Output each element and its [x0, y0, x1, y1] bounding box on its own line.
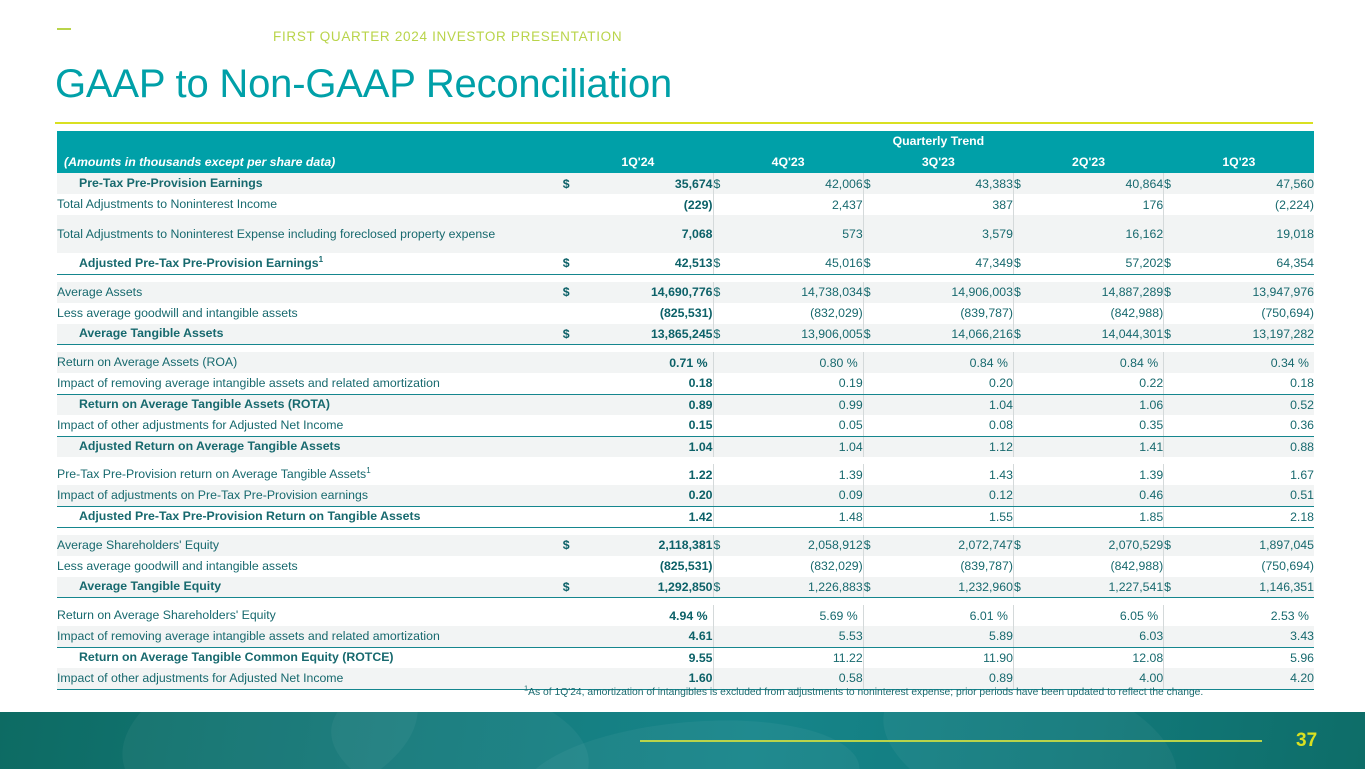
row-label: Average Tangible Assets [57, 324, 563, 345]
title-divider [55, 122, 1313, 124]
row-value: 7,068 [585, 215, 713, 253]
row-currency-symbol [863, 394, 885, 415]
row-currency-symbol [1013, 215, 1035, 253]
row-label: Pre-Tax Pre-Provision return on Average … [57, 464, 563, 485]
row-currency-symbol: $ [563, 324, 585, 345]
row-value: 11.22 [735, 647, 863, 668]
row-currency-symbol [713, 215, 735, 253]
table-footnote: 1As of 1Q'24, amortization of intangible… [524, 687, 1324, 700]
table-row: Total Adjustments to Noninterest Expense… [57, 215, 1314, 253]
row-currency-symbol [863, 215, 885, 253]
table-row: Adjusted Pre-Tax Pre-Provision Earnings1… [57, 253, 1314, 274]
row-value: 5.96 [1186, 647, 1314, 668]
row-currency-symbol [563, 436, 585, 457]
row-value: 0.88 [1186, 436, 1314, 457]
row-value: 42,006 [735, 173, 863, 194]
row-value: 0.99 [735, 394, 863, 415]
row-value: 0.20 [585, 485, 713, 506]
row-currency-symbol [563, 626, 585, 647]
table-row: Adjusted Pre-Tax Pre-Provision Return on… [57, 506, 1314, 527]
row-currency-symbol [713, 626, 735, 647]
row-label: Return on Average Shareholders' Equity [57, 605, 563, 626]
row-label: Impact of adjustments on Pre-Tax Pre-Pro… [57, 485, 563, 506]
row-currency-symbol: $ [1013, 535, 1035, 556]
row-currency-symbol [1013, 605, 1035, 626]
row-currency-symbol: $ [563, 535, 585, 556]
row-value: 13,865,245 [585, 324, 713, 345]
row-currency-symbol [713, 668, 735, 689]
row-value: 6.03 [1035, 626, 1163, 647]
row-value: 6.05 % [1035, 605, 1163, 626]
row-currency-symbol [1013, 436, 1035, 457]
row-currency-symbol [563, 194, 585, 215]
footer-subtitle: FIRST QUARTER 2024 INVESTOR PRESENTATION [273, 29, 622, 44]
row-currency-symbol [1164, 506, 1186, 527]
row-value: 2,072,747 [885, 535, 1013, 556]
row-currency-symbol [1013, 647, 1035, 668]
row-label: Adjusted Return on Average Tangible Asse… [57, 436, 563, 457]
header-spacer [57, 131, 563, 151]
table-row: Less average goodwill and intangible ass… [57, 303, 1314, 324]
row-currency-symbol [863, 485, 885, 506]
row-value: 0.71 % [585, 352, 713, 373]
row-currency-symbol [713, 605, 735, 626]
row-value: 0.34 % [1186, 352, 1314, 373]
row-currency-symbol [713, 194, 735, 215]
row-value: 1.43 [885, 464, 1013, 485]
row-currency-symbol: $ [1164, 253, 1186, 274]
row-label: Pre-Tax Pre-Provision Earnings [57, 173, 563, 194]
row-currency-symbol: $ [863, 535, 885, 556]
row-value: 9.55 [585, 647, 713, 668]
row-value: 57,202 [1035, 253, 1163, 274]
brand-name: SeacoastBank [117, 16, 256, 39]
row-value: 14,690,776 [585, 282, 713, 303]
row-value: 1.41 [1035, 436, 1163, 457]
row-value: 1.39 [735, 464, 863, 485]
row-value: 35,674 [585, 173, 713, 194]
row-currency-symbol [1164, 605, 1186, 626]
header-col-3q23: 3Q'23 [863, 151, 1013, 173]
row-currency-symbol: $ [1164, 577, 1186, 598]
row-value: (2,224) [1186, 194, 1314, 215]
row-value: 0.52 [1186, 394, 1314, 415]
row-value: 43,383 [885, 173, 1013, 194]
row-value: (842,988) [1035, 556, 1163, 577]
table-body: Pre-Tax Pre-Provision Earnings$35,674$42… [57, 173, 1314, 689]
row-value: 0.15 [585, 415, 713, 436]
row-value: 0.89 [885, 668, 1013, 689]
reconciliation-table-container: Quarterly Trend (Amounts in thousands ex… [57, 131, 1314, 690]
row-currency-symbol [1013, 506, 1035, 527]
row-currency-symbol [713, 485, 735, 506]
table-row: Impact of removing average intangible as… [57, 373, 1314, 394]
row-value: 13,947,976 [1186, 282, 1314, 303]
page-number: 37 [1296, 730, 1317, 752]
row-value: 1.60 [585, 668, 713, 689]
row-value: 0.12 [885, 485, 1013, 506]
row-currency-symbol [1013, 626, 1035, 647]
header-col-1q24: 1Q'24 [563, 151, 713, 173]
row-currency-symbol: $ [563, 253, 585, 274]
row-currency-symbol [713, 556, 735, 577]
row-value: 1,146,351 [1186, 577, 1314, 598]
row-label: Impact of removing average intangible as… [57, 373, 563, 394]
row-currency-symbol [1164, 394, 1186, 415]
row-currency-symbol [713, 394, 735, 415]
row-value: 3,579 [885, 215, 1013, 253]
row-value: 0.20 [885, 373, 1013, 394]
row-currency-symbol [863, 668, 885, 689]
row-value: 0.05 [735, 415, 863, 436]
row-value: (825,531) [585, 556, 713, 577]
row-label: Total Adjustments to Noninterest Income [57, 194, 563, 215]
row-value: 1.04 [735, 436, 863, 457]
row-label: Impact of other adjustments for Adjusted… [57, 668, 563, 689]
row-currency-symbol [1013, 194, 1035, 215]
row-currency-symbol [713, 373, 735, 394]
row-value: (825,531) [585, 303, 713, 324]
row-value: 0.18 [1186, 373, 1314, 394]
row-currency-symbol [713, 464, 735, 485]
registered-trademark-icon: ® [257, 19, 263, 28]
header-col-2q23: 2Q'23 [1013, 151, 1163, 173]
row-label: Total Adjustments to Noninterest Expense… [57, 215, 563, 253]
row-currency-symbol [1013, 352, 1035, 373]
row-currency-symbol: $ [713, 577, 735, 598]
row-currency-symbol [563, 485, 585, 506]
row-currency-symbol [1164, 485, 1186, 506]
row-value: 0.51 [1186, 485, 1314, 506]
row-label: Average Shareholders' Equity [57, 535, 563, 556]
section-gap [57, 345, 1314, 353]
row-value: 1,292,850 [585, 577, 713, 598]
row-currency-symbol [713, 647, 735, 668]
row-value: 0.36 [1186, 415, 1314, 436]
row-value: 0.09 [735, 485, 863, 506]
row-currency-symbol [563, 415, 585, 436]
row-value: 14,044,301 [1035, 324, 1163, 345]
row-currency-symbol: $ [713, 253, 735, 274]
row-value: 1.67 [1186, 464, 1314, 485]
row-label: Adjusted Pre-Tax Pre-Provision Return on… [57, 506, 563, 527]
row-currency-symbol [1164, 194, 1186, 215]
footnote-ref: 1 [319, 255, 323, 264]
row-currency-symbol [563, 394, 585, 415]
row-currency-symbol [713, 352, 735, 373]
row-currency-symbol [863, 556, 885, 577]
header-col-1q23: 1Q'23 [1164, 151, 1314, 173]
row-currency-symbol [563, 556, 585, 577]
row-currency-symbol: $ [1164, 324, 1186, 345]
row-currency-symbol: $ [713, 535, 735, 556]
row-value: 2,058,912 [735, 535, 863, 556]
footer-right-dash [640, 740, 1262, 742]
row-currency-symbol: $ [1013, 577, 1035, 598]
table-row: Pre-Tax Pre-Provision return on Average … [57, 464, 1314, 485]
reconciliation-table: Quarterly Trend (Amounts in thousands ex… [57, 131, 1314, 690]
row-value: 5.69 % [735, 605, 863, 626]
row-value: 4.00 [1035, 668, 1163, 689]
table-row: Pre-Tax Pre-Provision Earnings$35,674$42… [57, 173, 1314, 194]
row-value: 1.85 [1035, 506, 1163, 527]
row-currency-symbol [1013, 464, 1035, 485]
row-currency-symbol [1013, 394, 1035, 415]
header-caption: (Amounts in thousands except per share d… [57, 151, 563, 173]
table-row: Impact of adjustments on Pre-Tax Pre-Pro… [57, 485, 1314, 506]
row-currency-symbol [863, 373, 885, 394]
row-currency-symbol: $ [863, 577, 885, 598]
seacoast-logo-text: SeacoastBank® [117, 16, 262, 40]
row-currency-symbol [1164, 556, 1186, 577]
row-currency-symbol: $ [1013, 324, 1035, 345]
row-value: 45,016 [735, 253, 863, 274]
seacoast-logo: SeacoastBank® [86, 14, 262, 42]
row-value: 1.42 [585, 506, 713, 527]
row-value: (832,029) [735, 303, 863, 324]
row-value: 573 [735, 215, 863, 253]
row-currency-symbol: $ [1164, 282, 1186, 303]
row-currency-symbol [563, 373, 585, 394]
row-currency-symbol: $ [863, 282, 885, 303]
row-currency-symbol [563, 605, 585, 626]
row-currency-symbol: $ [713, 173, 735, 194]
row-value: 0.58 [735, 668, 863, 689]
row-currency-symbol: $ [563, 577, 585, 598]
table-row: Less average goodwill and intangible ass… [57, 556, 1314, 577]
row-currency-symbol [1013, 415, 1035, 436]
row-currency-symbol [563, 506, 585, 527]
row-label: Impact of other adjustments for Adjusted… [57, 415, 563, 436]
row-value: (842,988) [1035, 303, 1163, 324]
row-value: 14,887,289 [1035, 282, 1163, 303]
row-value: 1.04 [585, 436, 713, 457]
footer-left-dash [57, 28, 71, 30]
table-row: Return on Average Tangible Common Equity… [57, 647, 1314, 668]
row-value: 3.43 [1186, 626, 1314, 647]
row-value: 1.48 [735, 506, 863, 527]
row-currency-symbol: $ [863, 324, 885, 345]
row-currency-symbol [1164, 373, 1186, 394]
row-value: 64,354 [1186, 253, 1314, 274]
row-value: (839,787) [885, 556, 1013, 577]
row-currency-symbol [563, 464, 585, 485]
row-value: 0.84 % [885, 352, 1013, 373]
table-row: Impact of other adjustments for Adjusted… [57, 415, 1314, 436]
row-value: 176 [1035, 194, 1163, 215]
row-value: 1.04 [885, 394, 1013, 415]
row-currency-symbol [863, 415, 885, 436]
row-value: 13,197,282 [1186, 324, 1314, 345]
row-currency-symbol [1013, 373, 1035, 394]
row-value: 0.22 [1035, 373, 1163, 394]
row-currency-symbol [863, 605, 885, 626]
row-currency-symbol [1013, 556, 1035, 577]
row-value: 0.89 [585, 394, 713, 415]
row-value: 1,227,541 [1035, 577, 1163, 598]
row-currency-symbol [563, 352, 585, 373]
row-label: Less average goodwill and intangible ass… [57, 303, 563, 324]
row-currency-symbol [863, 352, 885, 373]
row-currency-symbol [1164, 352, 1186, 373]
table-row: Average Shareholders' Equity$2,118,381$2… [57, 535, 1314, 556]
row-value: 12.08 [1035, 647, 1163, 668]
row-label: Adjusted Pre-Tax Pre-Provision Earnings1 [57, 253, 563, 274]
row-currency-symbol [863, 647, 885, 668]
row-value: 0.19 [735, 373, 863, 394]
row-value: 11.90 [885, 647, 1013, 668]
row-currency-symbol: $ [563, 173, 585, 194]
row-value: 42,513 [585, 253, 713, 274]
row-value: 0.35 [1035, 415, 1163, 436]
row-value: 5.53 [735, 626, 863, 647]
row-value: 1.55 [885, 506, 1013, 527]
row-currency-symbol [863, 506, 885, 527]
row-currency-symbol [563, 647, 585, 668]
table-header: Quarterly Trend (Amounts in thousands ex… [57, 131, 1314, 173]
row-currency-symbol [863, 626, 885, 647]
row-currency-symbol [863, 303, 885, 324]
table-row: Return on Average Shareholders' Equity4.… [57, 605, 1314, 626]
row-value: 2,118,381 [585, 535, 713, 556]
row-value: 14,066,216 [885, 324, 1013, 345]
row-value: 1.06 [1035, 394, 1163, 415]
row-label: Impact of removing average intangible as… [57, 626, 563, 647]
row-currency-symbol [1013, 303, 1035, 324]
row-value: 4.94 % [585, 605, 713, 626]
row-currency-symbol [713, 506, 735, 527]
row-currency-symbol: $ [1164, 535, 1186, 556]
row-value: 1.22 [585, 464, 713, 485]
row-currency-symbol [1164, 436, 1186, 457]
row-currency-symbol [1013, 485, 1035, 506]
row-label: Return on Average Tangible Assets (ROTA) [57, 394, 563, 415]
row-currency-symbol: $ [863, 253, 885, 274]
footnote-ref: 1 [366, 466, 370, 475]
row-value: 6.01 % [885, 605, 1013, 626]
row-currency-symbol [1164, 647, 1186, 668]
row-value: 14,906,003 [885, 282, 1013, 303]
row-value: 14,738,034 [735, 282, 863, 303]
table-header-group-row: Quarterly Trend [57, 131, 1314, 151]
row-value: 1,226,883 [735, 577, 863, 598]
row-value: 2,070,529 [1035, 535, 1163, 556]
row-value: 2.53 % [1186, 605, 1314, 626]
table-row: Impact of removing average intangible as… [57, 626, 1314, 647]
table-row: Total Adjustments to Noninterest Income(… [57, 194, 1314, 215]
table-row: Average Tangible Assets$13,865,245$13,90… [57, 324, 1314, 345]
row-value: 13,906,005 [735, 324, 863, 345]
row-value: (229) [585, 194, 713, 215]
row-label: Average Tangible Equity [57, 577, 563, 598]
table-row: Return on Average Assets (ROA)0.71 %0.80… [57, 352, 1314, 373]
row-currency-symbol [713, 303, 735, 324]
row-currency-symbol [563, 303, 585, 324]
section-gap [57, 457, 1314, 464]
row-currency-symbol [713, 436, 735, 457]
row-value: 0.80 % [735, 352, 863, 373]
row-label: Return on Average Tangible Common Equity… [57, 647, 563, 668]
row-value: 4.61 [585, 626, 713, 647]
row-value: 1.12 [885, 436, 1013, 457]
table-row: Return on Average Tangible Assets (ROTA)… [57, 394, 1314, 415]
row-currency-symbol [1164, 215, 1186, 253]
header-col-4q23: 4Q'23 [713, 151, 863, 173]
row-value: 0.84 % [1035, 352, 1163, 373]
row-currency-symbol [713, 415, 735, 436]
row-currency-symbol: $ [863, 173, 885, 194]
section-gap [57, 527, 1314, 535]
row-currency-symbol [1164, 464, 1186, 485]
row-currency-symbol [1164, 668, 1186, 689]
row-currency-symbol [863, 194, 885, 215]
row-label: Return on Average Assets (ROA) [57, 352, 563, 373]
row-currency-symbol: $ [1013, 282, 1035, 303]
row-value: 1,897,045 [1186, 535, 1314, 556]
row-value: (750,694) [1186, 303, 1314, 324]
row-value: (750,694) [1186, 556, 1314, 577]
row-currency-symbol: $ [1013, 253, 1035, 274]
row-currency-symbol [1164, 626, 1186, 647]
row-value: 4.20 [1186, 668, 1314, 689]
row-currency-symbol [1164, 415, 1186, 436]
table-row: Average Assets$14,690,776$14,738,034$14,… [57, 282, 1314, 303]
table-header-columns-row: (Amounts in thousands except per share d… [57, 151, 1314, 173]
row-value: 2,437 [735, 194, 863, 215]
row-currency-symbol: $ [1013, 173, 1035, 194]
section-gap [57, 598, 1314, 606]
row-currency-symbol [1013, 668, 1035, 689]
row-currency-symbol: $ [563, 282, 585, 303]
row-value: 1,232,960 [885, 577, 1013, 598]
row-currency-symbol [563, 668, 585, 689]
table-row: Adjusted Return on Average Tangible Asse… [57, 436, 1314, 457]
row-value: (832,029) [735, 556, 863, 577]
row-value: 16,162 [1035, 215, 1163, 253]
row-value: 47,560 [1186, 173, 1314, 194]
row-label: Less average goodwill and intangible ass… [57, 556, 563, 577]
row-currency-symbol [1164, 303, 1186, 324]
footnote-text: As of 1Q'24, amortization of intangibles… [528, 687, 1203, 698]
row-currency-symbol [863, 436, 885, 457]
table-row: Impact of other adjustments for Adjusted… [57, 668, 1314, 689]
row-value: 0.08 [885, 415, 1013, 436]
row-value: (839,787) [885, 303, 1013, 324]
row-currency-symbol: $ [713, 324, 735, 345]
row-value: 387 [885, 194, 1013, 215]
page-title: GAAP to Non-GAAP Reconciliation [55, 62, 672, 107]
row-currency-symbol [863, 464, 885, 485]
row-value: 0.18 [585, 373, 713, 394]
row-value: 1.39 [1035, 464, 1163, 485]
row-value: 19,018 [1186, 215, 1314, 253]
row-value: 0.46 [1035, 485, 1163, 506]
header-quarterly-trend: Quarterly Trend [563, 131, 1314, 151]
row-value: 40,864 [1035, 173, 1163, 194]
row-value: 47,349 [885, 253, 1013, 274]
row-currency-symbol [563, 215, 585, 253]
row-label: Average Assets [57, 282, 563, 303]
row-currency-symbol: $ [713, 282, 735, 303]
row-value: 5.89 [885, 626, 1013, 647]
section-gap [57, 274, 1314, 282]
seacoast-wave-logo-icon [86, 14, 110, 42]
table-row: Average Tangible Equity$1,292,850$1,226,… [57, 577, 1314, 598]
row-value: 2.18 [1186, 506, 1314, 527]
row-currency-symbol: $ [1164, 173, 1186, 194]
